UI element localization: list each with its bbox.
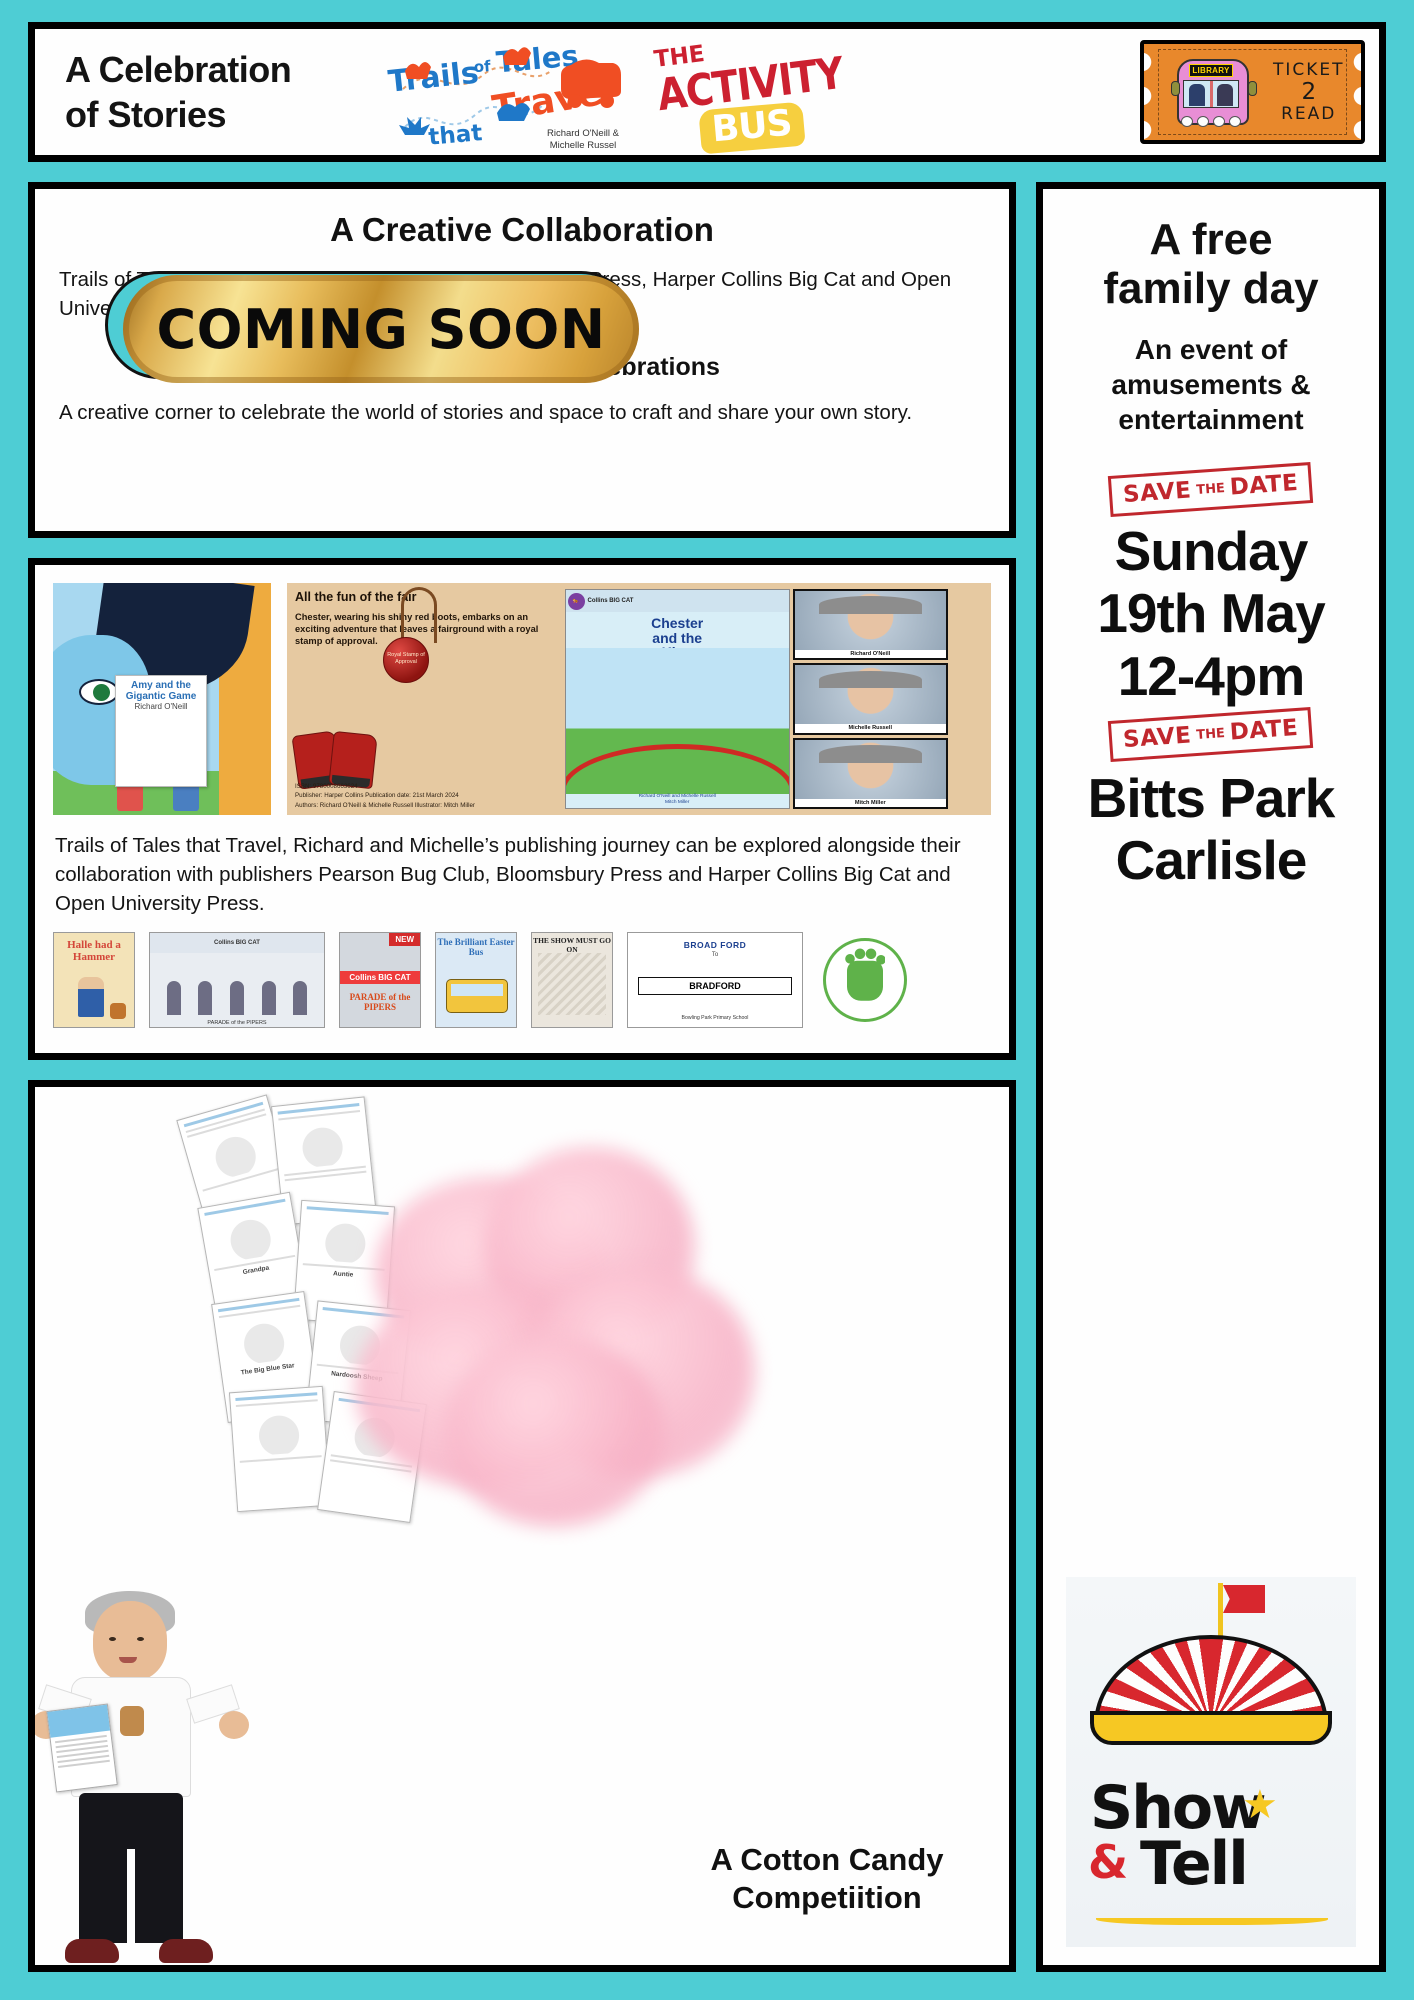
- author-portraits: Richard O'Neill Michelle Russell Mitch M…: [793, 589, 948, 809]
- activity-bus-bus: BUS: [711, 106, 793, 147]
- ampersand: &: [1088, 1835, 1128, 1889]
- left-column: A Creative Collaboration Trails of Tales…: [28, 182, 1016, 1972]
- chester-title-line-1: Chester: [566, 616, 789, 631]
- mini-cover-to: To: [628, 952, 802, 958]
- tent-valance: [1090, 1711, 1332, 1745]
- event-location: Bitts Park Carlisle: [1088, 767, 1335, 892]
- event-date-line-2: 19th May: [1097, 582, 1324, 645]
- circus-tent-icon: [1094, 1635, 1328, 1759]
- chester-isbn: ISBN: 9780008663624: [295, 782, 475, 791]
- stamp-save: SAVE: [1123, 477, 1193, 508]
- creative-collaboration-card: A Creative Collaboration Trails of Tales…: [28, 182, 1016, 538]
- mini-cover-city: BRADFORD: [638, 977, 792, 995]
- green-handprint-icon: [823, 938, 907, 1022]
- mini-cover-brilliant-easter-bus: The Brilliant Easter Bus: [435, 932, 517, 1028]
- mini-cover-broad-ford-to-bradford: BROAD FORD To BRADFORD Bowling Park Prim…: [627, 932, 803, 1028]
- activity-bus-bus-plate: BUS: [699, 101, 806, 154]
- ticket-2-read-logo: LIBRARY TICKET 2 READ: [1140, 40, 1365, 144]
- trails-of-tales-logo: Trails of Tales that Travel Richard O'Ne: [375, 31, 625, 153]
- mini-cover-the-show-must-go-on: THE SHOW MUST GO ON: [531, 932, 613, 1028]
- chester-authors: Authors: Richard O'Neill & Michelle Russ…: [295, 801, 475, 810]
- chester-book-cover: 🐅 Collins BIG CAT Chester and the King: [565, 589, 790, 809]
- free-line-1: A free: [1103, 215, 1318, 264]
- mini-cover-title: THE SHOW MUST GO ON: [532, 937, 612, 954]
- portrait-name: Michelle Russell: [795, 724, 946, 732]
- mini-cover-imprint: Collins BIG CAT: [150, 933, 324, 953]
- chester-metadata: ISBN: 9780008663624 Publisher: Harper Co…: [295, 782, 475, 810]
- trails-of-tales-credit: Richard O'Neill & Michelle Russel: [547, 128, 619, 152]
- handprint-shape: [847, 961, 883, 1001]
- portrait-name: Richard O'Neill: [795, 650, 946, 658]
- held-story-card: [46, 1704, 118, 1793]
- royal-stamp-seal: Royal Stamp of Approval: [383, 637, 429, 683]
- cotton-candy-card: Grandpa Auntie The Big Blue Star Nardoos…: [28, 1080, 1016, 1972]
- bus-windscreen: [1183, 80, 1239, 108]
- save-the-date-stamp-top: SAVE THE DATE: [1108, 461, 1314, 516]
- chester-cover-header: 🐅 Collins BIG CAT: [566, 590, 789, 612]
- event-date: Sunday 19th May 12-4pm: [1097, 520, 1324, 708]
- chester-publisher: Publisher: Harper Collins Publication da…: [295, 791, 475, 800]
- stamp-the: THE: [1196, 725, 1226, 742]
- mini-cover-band: Collins BIG CAT: [340, 971, 420, 984]
- held-card-lines: [51, 1730, 115, 1775]
- event-sub-line-2: amusements &: [1111, 367, 1310, 402]
- chester-cover-credits: Richard O'Neill and Michelle Russell Mit…: [566, 794, 789, 806]
- amy-pupil: [93, 684, 110, 701]
- event-sub-line-1: An event of: [1111, 332, 1310, 367]
- journey-text: Trails of Tales that Travel, Richard and…: [55, 831, 989, 918]
- show-and-tell-logo: Show ★ & Tell: [1066, 1577, 1356, 1947]
- mini-cover-figures: [158, 971, 316, 1015]
- svg-text:that: that: [427, 120, 483, 151]
- mini-cover-title: BROAD FORD: [628, 940, 802, 950]
- ticket-text: TICKET 2 READ: [1273, 60, 1345, 124]
- page-title-line-2: of Stories: [65, 92, 365, 137]
- cotton-candy-caption: A Cotton Candy Competiition: [667, 1841, 987, 1917]
- seal-ribbon: [401, 587, 437, 643]
- bus-wheels: [1181, 116, 1241, 127]
- credit-line-2: Michelle Russel: [547, 140, 619, 152]
- page-title-line-1: A Celebration: [65, 47, 365, 92]
- ticket-inner-frame: LIBRARY TICKET 2 READ: [1158, 49, 1347, 135]
- rollercoaster-track: [566, 744, 789, 792]
- bus-passenger-left: [1189, 84, 1205, 106]
- bus-mirror-right: [1248, 81, 1257, 96]
- stamp-date: DATE: [1229, 469, 1299, 500]
- book-collage-chester-and-the-king: All the fun of the fair Chester, wearing…: [287, 583, 991, 815]
- chester-cover-illustrator: Mitch Miller: [566, 800, 789, 806]
- credit-line-1: Richard O'Neill &: [547, 128, 619, 140]
- book-images-row: Amy and the Gigantic Game Richard O'Neil…: [53, 583, 991, 815]
- event-place-line-2: Carlisle: [1088, 829, 1335, 892]
- page-title: A Celebration of Stories: [65, 47, 365, 137]
- svg-text:of: of: [473, 57, 492, 76]
- event-details-card: A free family day An event of amusements…: [1036, 182, 1386, 1972]
- storyteller-eye-left: [109, 1637, 116, 1641]
- mini-cover-title: Halle had a Hammer: [54, 939, 134, 963]
- red-boots-image: [295, 725, 391, 787]
- event-sub-line-3: entertainment: [1111, 402, 1310, 437]
- right-column: A free family day An event of amusements…: [1036, 182, 1386, 1972]
- library-bus-icon: LIBRARY: [1171, 53, 1257, 131]
- star-icon: ★: [1242, 1785, 1278, 1825]
- collab-heading: A Creative Collaboration: [59, 211, 985, 249]
- mini-cover-title: PARADE of the PIPERS: [340, 992, 420, 1012]
- cotton-candy-caption-line-2: Competiition: [667, 1879, 987, 1917]
- portrait-hair: [819, 745, 922, 763]
- storyteller-shoe-left: [65, 1939, 119, 1963]
- mini-cover-parade-of-the-pipers: Collins BIG CAT PARADE of the PIPERS: [149, 932, 325, 1028]
- coming-soon-gold-plate: COMING SOON: [123, 275, 639, 383]
- mini-book-covers-row: Halle had a Hammer Collins BIG CAT PARAD…: [53, 932, 991, 1028]
- storyteller-shoe-right: [159, 1939, 213, 1963]
- amy-inner-title: Amy and the Gigantic Game: [120, 680, 202, 702]
- free-family-day-heading: A free family day: [1103, 215, 1318, 314]
- event-subheading: An event of amusements & entertainment: [1111, 332, 1310, 437]
- bus-passenger-right: [1217, 84, 1233, 106]
- portrait-richard-oneill: Richard O'Neill: [793, 589, 948, 660]
- poster-body: A Creative Collaboration Trails of Tales…: [28, 182, 1386, 1972]
- story-cards-fan: Grandpa Auntie The Big Blue Star Nardoos…: [185, 1101, 515, 1531]
- portrait-name: Mitch Miller: [795, 799, 946, 807]
- library-sign: LIBRARY: [1189, 64, 1233, 77]
- storyteller-eye-right: [137, 1637, 144, 1641]
- storyteller-hand-right: [219, 1711, 249, 1739]
- bus-mirror-left: [1171, 81, 1180, 96]
- chester-blurb-panel: All the fun of the fair Chester, wearing…: [287, 583, 562, 815]
- mini-cover-sketch: [538, 953, 606, 1015]
- mini-cover-title: PARADE of the PIPERS: [150, 1020, 324, 1026]
- mini-cover-title: The Brilliant Easter Bus: [436, 938, 516, 957]
- stamp-save: SAVE: [1123, 722, 1193, 753]
- storyteller-trousers: [79, 1793, 183, 1943]
- mini-cover-hammer: [110, 1003, 126, 1019]
- storyteller-figure: [57, 1595, 217, 1965]
- publishing-journey-card: Amy and the Gigantic Game Richard O'Neil…: [28, 558, 1016, 1060]
- mini-cover-halle-had-a-hammer: Halle had a Hammer: [53, 932, 135, 1028]
- mini-cover-parade-new: NEW Collins BIG CAT PARADE of the PIPERS: [339, 932, 421, 1028]
- ticket-line-3: READ: [1273, 104, 1345, 124]
- portrait-michelle-russell: Michelle Russell: [793, 663, 948, 734]
- collab-note-text: A creative corner to celebrate the world…: [59, 398, 985, 428]
- mini-cover-school: Bowling Park Primary School: [628, 1015, 802, 1021]
- coming-soon-badge: COMING SOON: [105, 271, 635, 379]
- portrait-hair: [819, 671, 922, 689]
- chester-cover-artwork: [566, 648, 789, 794]
- cotton-candy-caption-line-1: A Cotton Candy: [667, 1841, 987, 1879]
- storyteller-shirt-motif: [120, 1706, 144, 1736]
- ticket-line-2: 2: [1273, 80, 1345, 104]
- amy-inner-author: Richard O'Neill: [134, 702, 187, 711]
- stamp-date: DATE: [1229, 715, 1299, 746]
- chester-title-line-2: and the: [566, 631, 789, 646]
- svg-text:Trails: Trails: [387, 55, 481, 99]
- poster-header: A Celebration of Stories Trails of Tales…: [28, 22, 1386, 162]
- story-card: [229, 1386, 331, 1512]
- logo-underline: [1096, 1911, 1328, 1925]
- portrait-mitch-miller: Mitch Miller: [793, 738, 948, 809]
- stamp-the: THE: [1196, 480, 1226, 497]
- portrait-hair: [819, 596, 922, 614]
- story-card: [317, 1391, 427, 1523]
- book-cover-amy-gigantic-game: Amy and the Gigantic Game Richard O'Neil…: [53, 583, 271, 815]
- new-badge: NEW: [389, 933, 420, 946]
- tell-word: Tell: [1140, 1829, 1247, 1899]
- event-date-line-1: Sunday: [1097, 520, 1324, 583]
- mini-cover-figure: [78, 977, 104, 1017]
- coming-soon-label: COMING SOON: [156, 298, 605, 361]
- storyteller-head: [93, 1601, 167, 1681]
- ticket-line-1: TICKET: [1273, 60, 1345, 80]
- activity-bus-logo: THE ACTIVITY BUS: [641, 36, 806, 148]
- free-line-2: family day: [1103, 264, 1318, 313]
- save-the-date-stamp-bottom: SAVE THE DATE: [1108, 707, 1314, 762]
- big-cat-lion-icon: 🐅: [568, 593, 585, 610]
- mini-cover-bus-icon: [446, 979, 508, 1013]
- event-place-line-1: Bitts Park: [1088, 767, 1335, 830]
- event-date-line-3: 12-4pm: [1097, 645, 1324, 708]
- amy-inner-cover: Amy and the Gigantic Game Richard O'Neil…: [115, 675, 207, 787]
- chester-imprint: Collins BIG CAT: [588, 598, 634, 605]
- boot-right: [328, 731, 377, 789]
